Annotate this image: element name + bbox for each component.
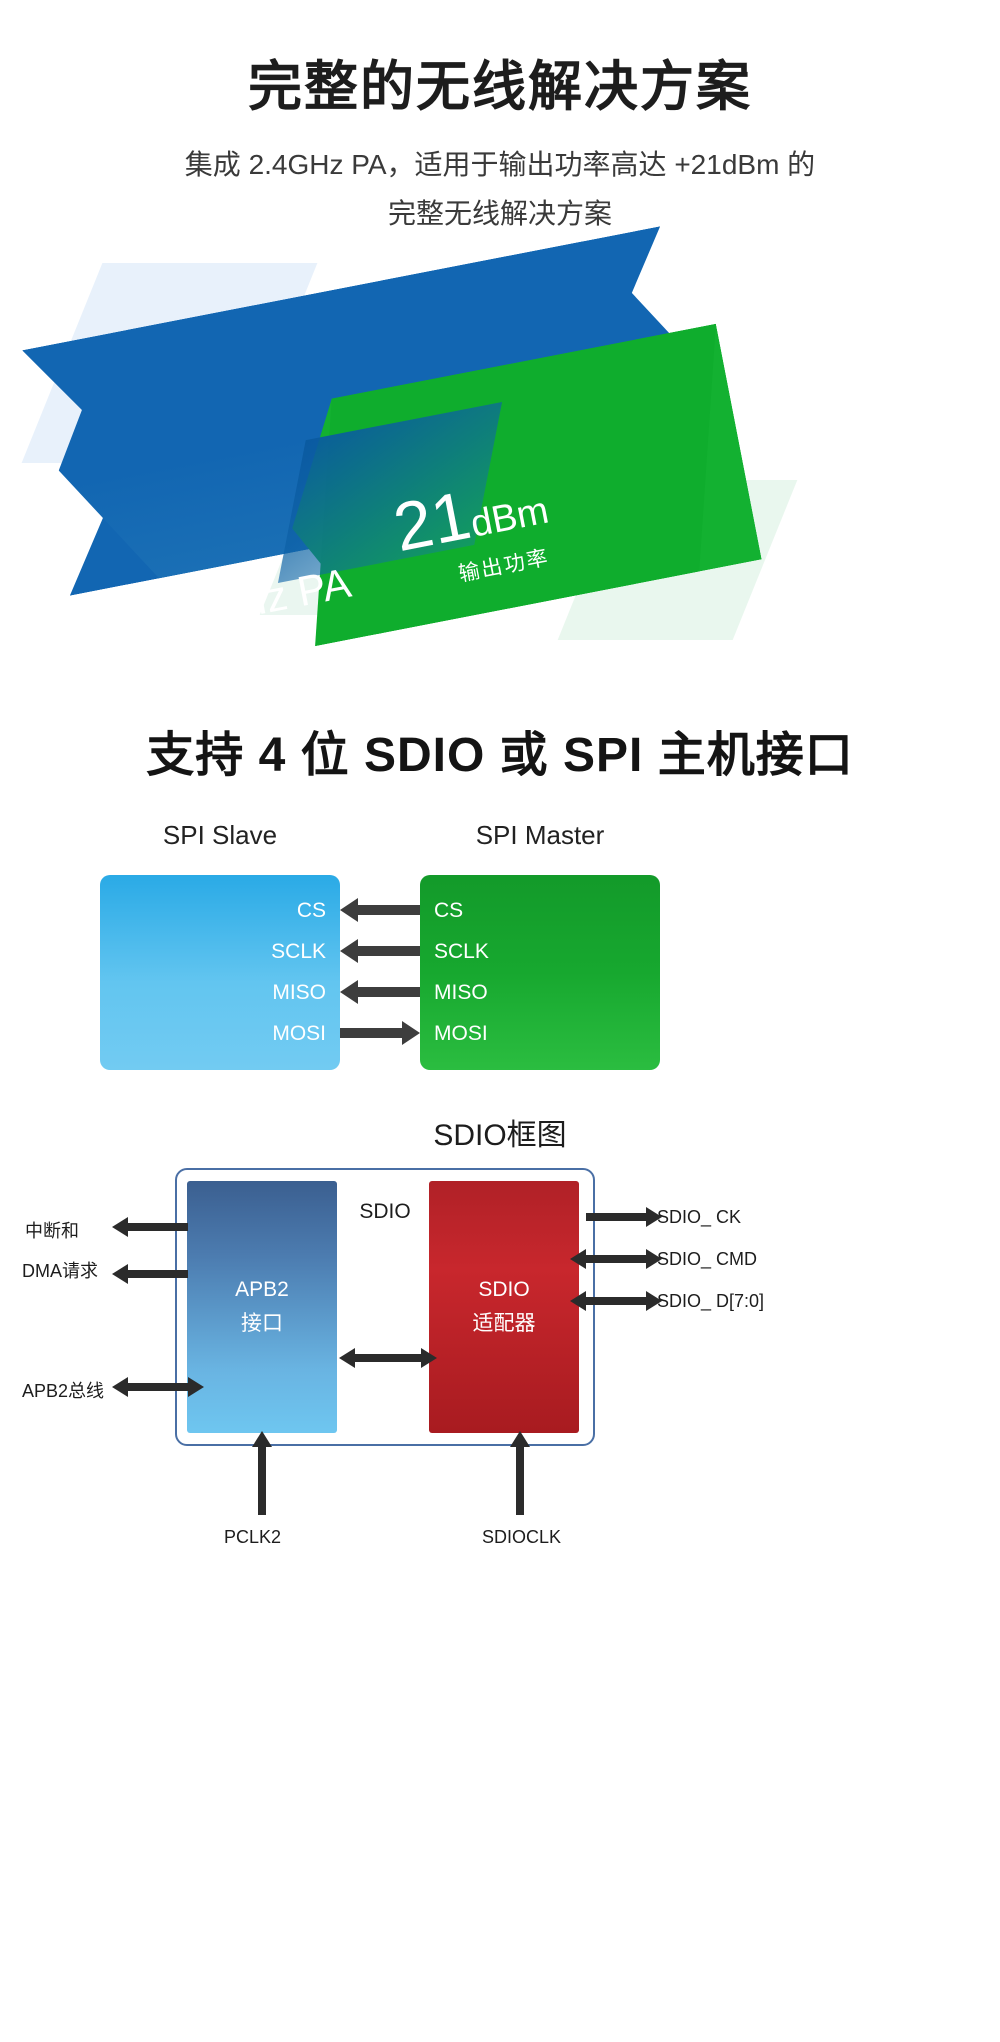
sdio-label-dma-request: DMA请求	[22, 1257, 98, 1283]
sdio-label-sdio-ck: SDIO_ CK	[657, 1207, 741, 1228]
apb2-box-label: APB2 接口	[187, 1273, 337, 1340]
sdio-arrow-center-head-right	[421, 1348, 437, 1368]
hero-banner-graphic: 2.4GHz PA 21dBm 输出功率	[0, 250, 1000, 650]
blue-banner-value: 2.4	[96, 559, 210, 660]
spi-arrow-cs-head	[340, 898, 358, 922]
sdio-arrow-pclk2-body	[258, 1445, 266, 1515]
sdio-label-interrupt: 中断和	[25, 1217, 79, 1243]
sdio-adapter-box-label: SDIO 适配器	[429, 1273, 579, 1340]
spi-slave-pin-miso: MISO	[272, 981, 326, 1005]
sdio-label-sdio-d: SDIO_ D[7:0]	[657, 1291, 764, 1312]
sdio-arrow-center-head-left	[339, 1348, 355, 1368]
section-2-title: 支持 4 位 SDIO 或 SPI 主机接口	[0, 715, 1000, 785]
sdio-arrow-interrupt-body	[128, 1223, 188, 1231]
spi-arrow-sclk-body	[358, 946, 420, 956]
spi-arrow-miso-head	[340, 980, 358, 1004]
sdio-arrow-d-head-right	[646, 1291, 662, 1311]
sdio-bus-label: SDIO	[345, 1200, 425, 1224]
spi-master-box: CS SCLK MISO MOSI	[420, 875, 660, 1070]
sdio-block-diagram: APB2 接口 SDIO 适配器 SDIO 中断和 DMA请求 APB2总线 S…	[0, 1155, 1000, 1575]
spi-master-pin-miso: MISO	[434, 981, 488, 1005]
sdio-arrow-apb2bus-head-right	[188, 1377, 204, 1397]
sdio-diagram-title: SDIO框图	[0, 1110, 1000, 1154]
spi-slave-pin-mosi: MOSI	[272, 1022, 326, 1046]
spi-master-caption: SPI Master	[410, 820, 670, 851]
sdio-arrow-d-head-left	[570, 1291, 586, 1311]
sdio-adapter-label-line-1: SDIO	[429, 1273, 579, 1307]
spi-arrow-sclk-head	[340, 939, 358, 963]
spi-interface-diagram: SPI Slave SPI Master CS SCLK MISO MOSI C…	[0, 820, 1000, 1080]
sdio-arrow-apb2bus-body	[128, 1383, 188, 1391]
spi-master-pin-cs: CS	[434, 899, 463, 923]
sdio-arrow-pclk2-head	[252, 1431, 272, 1447]
page-subtitle-line-2: 完整无线解决方案	[0, 189, 1000, 238]
spi-arrow-cs-body	[358, 905, 420, 915]
sdio-arrow-interrupt-head	[112, 1217, 128, 1237]
apb2-label-line-1: APB2	[187, 1273, 337, 1307]
green-banner-value: 21	[388, 477, 477, 566]
apb2-label-line-2: 接口	[187, 1307, 337, 1341]
sdio-arrow-cmd-body	[586, 1255, 646, 1263]
sdio-arrow-d-body	[586, 1297, 646, 1305]
spi-slave-box: CS SCLK MISO MOSI	[100, 875, 340, 1070]
sdio-arrow-ck-head	[646, 1207, 662, 1227]
sdio-arrow-center-body	[355, 1354, 421, 1362]
sdio-arrow-ck-body	[586, 1213, 646, 1221]
sdio-adapter-label-line-2: 适配器	[429, 1307, 579, 1341]
green-banner-unit: dBm	[467, 490, 552, 546]
spi-slave-pin-sclk: SCLK	[271, 940, 326, 964]
sdio-arrow-sdioclk-head	[510, 1431, 530, 1447]
page-subtitle-line-1: 集成 2.4GHz PA，适用于输出功率高达 +21dBm 的	[185, 149, 815, 180]
sdio-label-pclk2: PCLK2	[224, 1527, 281, 1548]
page-subtitle: 集成 2.4GHz PA，适用于输出功率高达 +21dBm 的 完整无线解决方案	[0, 140, 1000, 238]
sdio-arrow-dma-head	[112, 1264, 128, 1284]
sdio-label-apb2-bus: APB2总线	[22, 1377, 104, 1403]
spi-slave-caption: SPI Slave	[90, 820, 350, 851]
sdio-arrow-sdioclk-body	[516, 1445, 524, 1515]
sdio-arrow-apb2bus-head-left	[112, 1377, 128, 1397]
sdio-label-sdio-cmd: SDIO_ CMD	[657, 1249, 757, 1270]
sdio-label-sdioclk: SDIOCLK	[482, 1527, 561, 1548]
sdio-arrow-dma-body	[128, 1270, 188, 1278]
sdio-arrow-cmd-head-right	[646, 1249, 662, 1269]
spi-arrow-miso-body	[358, 987, 420, 997]
spi-master-pin-mosi: MOSI	[434, 1022, 488, 1046]
page-title: 完整的无线解决方案	[0, 56, 1000, 118]
spi-arrow-mosi-body	[340, 1028, 402, 1038]
spi-arrow-mosi-head	[402, 1021, 420, 1045]
spi-master-pin-sclk: SCLK	[434, 940, 489, 964]
sdio-arrow-cmd-head-left	[570, 1249, 586, 1269]
spi-slave-pin-cs: CS	[297, 899, 326, 923]
